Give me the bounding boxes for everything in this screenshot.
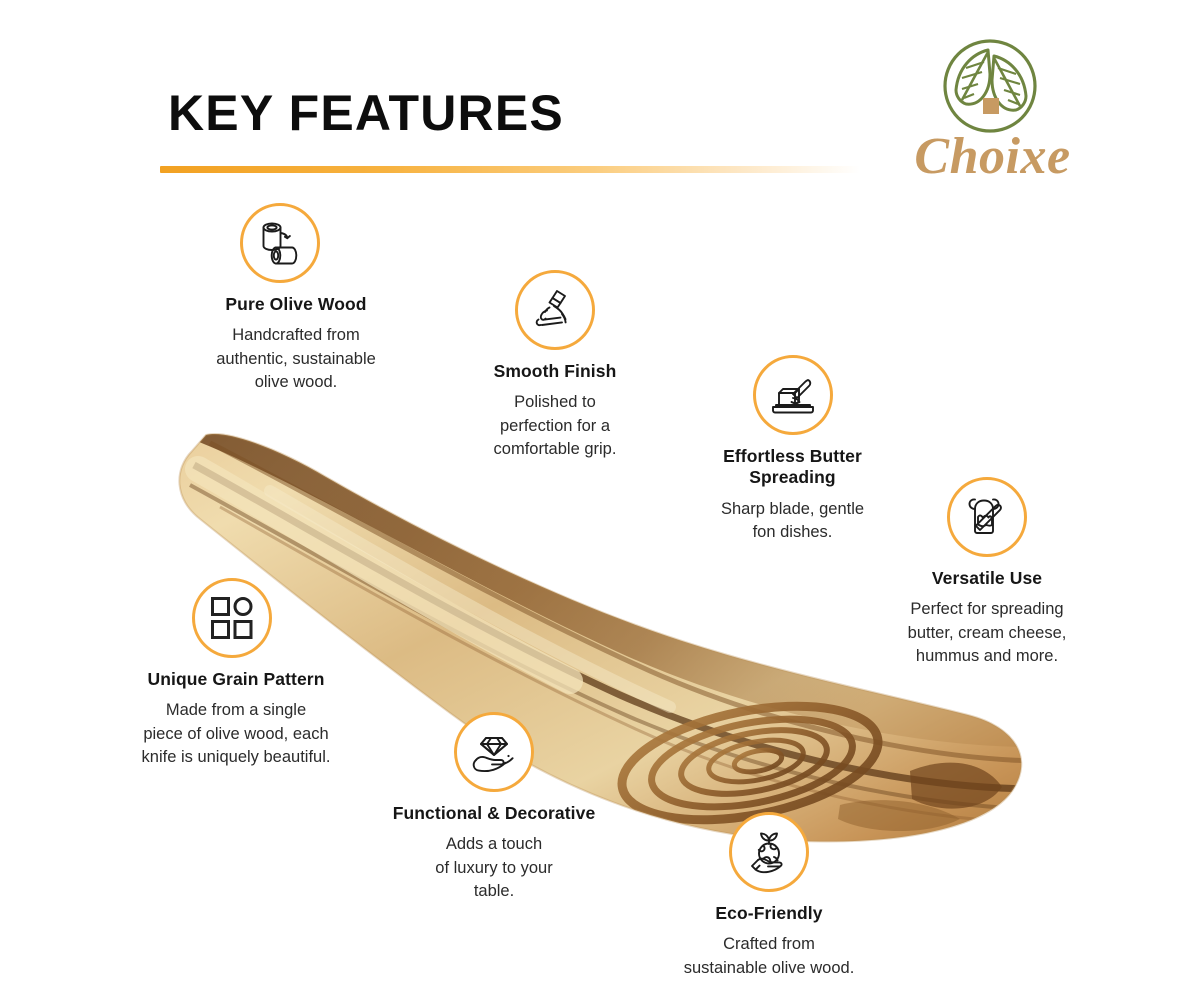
feature-description: Made from a single piece of olive wood, … xyxy=(110,699,362,769)
brand-wordmark: Choixe xyxy=(900,130,1085,185)
feature-title: Functional & Decorative xyxy=(378,803,610,824)
feature-description: Crafted from sustainable olive wood. xyxy=(658,933,880,980)
butter-knife-spreading-icon xyxy=(753,355,833,435)
infographic-canvas: KEY FEATURES Choixe xyxy=(0,0,1201,1000)
feature-title: Versatile Use xyxy=(878,568,1096,589)
feature-eco-friendly: Eco-Friendly Crafted from sustainable ol… xyxy=(658,812,880,980)
bread-slice-knife-icon xyxy=(947,477,1027,557)
feature-functional-decorative: Functional & Decorative Adds a touch of … xyxy=(378,712,610,904)
globe-in-hand-plant-icon xyxy=(729,812,809,892)
pattern-grid-icon xyxy=(192,578,272,658)
sanding-hand-icon xyxy=(515,270,595,350)
feature-title: Eco-Friendly xyxy=(658,903,880,924)
feature-title: Unique Grain Pattern xyxy=(110,669,362,690)
diamond-in-hand-icon xyxy=(454,712,534,792)
brand-logo: Choixe xyxy=(900,34,1085,189)
page-title: KEY FEATURES xyxy=(168,88,564,138)
olive-leaves-circle-logo-icon xyxy=(934,34,1046,138)
feature-description: Handcrafted from authentic, sustainable … xyxy=(170,324,422,394)
feature-description: Perfect for spreading butter, cream chee… xyxy=(878,598,1096,668)
wood-logs-icon xyxy=(240,203,320,283)
feature-description: Polished to perfection for a comfortable… xyxy=(440,391,670,461)
feature-title: Effortless Butter Spreading xyxy=(690,446,895,489)
feature-description: Adds a touch of luxury to your table. xyxy=(378,833,610,903)
feature-description: Sharp blade, gentle fon dishes. xyxy=(690,498,895,545)
feature-title: Pure Olive Wood xyxy=(170,294,422,315)
feature-versatile-use: Versatile Use Perfect for spreading butt… xyxy=(878,477,1096,669)
feature-unique-grain-pattern: Unique Grain Pattern Made from a single … xyxy=(110,578,362,770)
feature-effortless-spreading: Effortless Butter Spreading Sharp blade,… xyxy=(690,355,895,545)
feature-pure-olive-wood: Pure Olive Wood Handcrafted from authent… xyxy=(170,203,422,395)
feature-title: Smooth Finish xyxy=(440,361,670,382)
title-underline-rule xyxy=(160,166,860,173)
feature-smooth-finish: Smooth Finish Polished to perfection for… xyxy=(440,270,670,462)
